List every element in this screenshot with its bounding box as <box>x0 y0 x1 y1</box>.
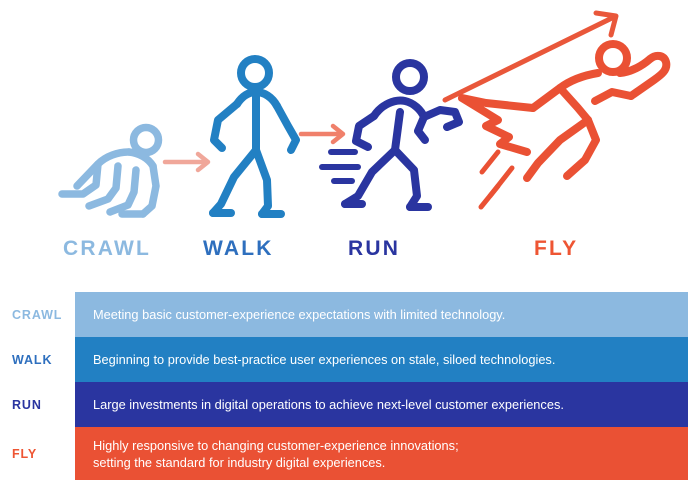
figures-illustration <box>0 0 700 232</box>
legend-description-fly: Highly responsive to changing customer-e… <box>75 437 473 471</box>
arrow-walk-to-run <box>301 126 343 142</box>
arrow-crawl-to-walk <box>165 154 208 170</box>
legend-key-fly: FLY <box>12 427 74 480</box>
walking-person-icon <box>213 59 296 214</box>
legend-bar-run: Large investments in digital operations … <box>75 382 688 427</box>
crawling-person-icon <box>62 128 159 215</box>
stage-caption-crawl: CRAWL <box>63 236 151 262</box>
stage-captions: CRAWL WALK RUN FLY <box>0 236 700 270</box>
legend-description-walk: Beginning to provide best-practice user … <box>75 351 569 368</box>
legend-description-crawl: Meeting basic customer-experience expect… <box>75 306 519 323</box>
legend-row-run: RUN Large investments in digital operati… <box>0 382 700 427</box>
legend-bar-fly: Highly responsive to changing customer-e… <box>75 427 688 480</box>
legend-row-walk: WALK Beginning to provide best-practice … <box>0 337 700 382</box>
legend-key-run: RUN <box>12 382 74 427</box>
legend-row-crawl: CRAWL Meeting basic customer-experience … <box>0 292 700 337</box>
legend-bar-walk: Beginning to provide best-practice user … <box>75 337 688 382</box>
legend-description-run: Large investments in digital operations … <box>75 396 578 413</box>
growth-arrow <box>445 13 616 100</box>
maturity-infographic: CRAWL WALK RUN FLY CRAWL Meeting basic c… <box>0 0 700 492</box>
legend-table: CRAWL Meeting basic customer-experience … <box>0 288 700 488</box>
flying-superhero-icon <box>462 44 666 207</box>
stage-caption-run: RUN <box>348 236 400 262</box>
stage-caption-fly: FLY <box>534 236 578 262</box>
stage-caption-walk: WALK <box>203 236 274 262</box>
legend-key-walk: WALK <box>12 337 74 382</box>
legend-row-fly: FLY Highly responsive to changing custom… <box>0 427 700 480</box>
legend-bar-crawl: Meeting basic customer-experience expect… <box>75 292 688 337</box>
legend-key-crawl: CRAWL <box>12 292 74 337</box>
figures-band <box>0 0 700 232</box>
